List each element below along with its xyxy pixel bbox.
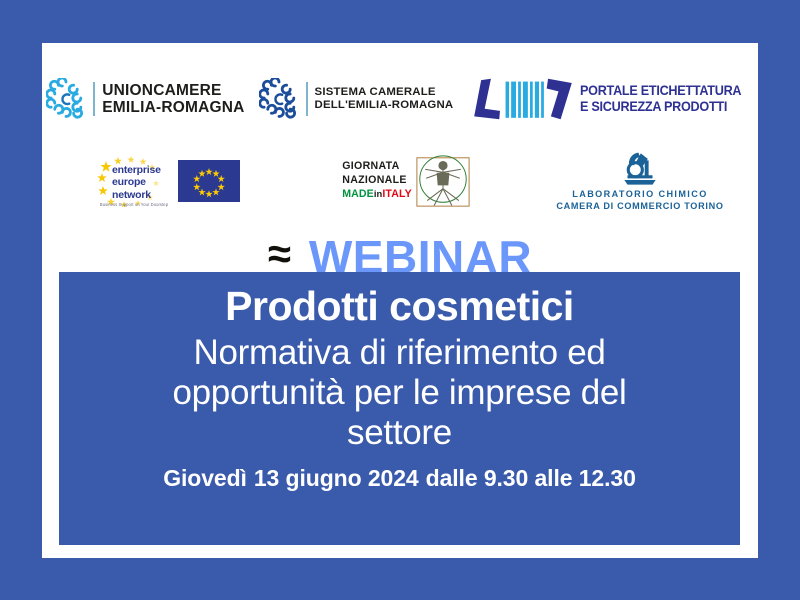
eu-stars-circle-icon	[178, 160, 240, 202]
vitruvian-man-icon	[414, 152, 472, 210]
poster-card: UNIONCAMERE EMILIA-ROMAGNA	[42, 43, 758, 558]
barcode-bracket-icon	[467, 76, 572, 122]
logo-divider	[93, 82, 95, 116]
event-title: Prodotti cosmetici	[69, 284, 730, 330]
event-subtitle: Normativa di riferimento ed opportunità …	[69, 333, 730, 453]
microscope-icon	[616, 151, 664, 187]
logo-portale-etichettatura: PORTALE ETICHETTATURA E SICUREZZA PRODOT…	[467, 76, 753, 122]
event-date: 13 giugno 2024	[254, 465, 419, 491]
een-wordmark: enterprise europe network	[112, 164, 172, 201]
logo-divider	[306, 82, 308, 116]
een-word-europe: europe	[112, 176, 172, 188]
een-word-enterprise: enterprise	[112, 164, 172, 176]
giornata-line-1: GIORNATA	[342, 160, 411, 174]
wifi-wave-icon: ≈	[268, 233, 291, 275]
event-subtitle-line-1: Normativa di riferimento ed	[69, 333, 730, 373]
portale-wordmark: PORTALE ETICHETTATURA E SICUREZZA PRODOT…	[580, 83, 753, 116]
sistema-camerale-flower-icon	[259, 78, 299, 120]
made-in-italy-wordmark: MADEinITALY	[342, 188, 411, 202]
laboratorio-line-2: CAMERA DI COMMERCIO TORINO	[556, 201, 723, 211]
event-day: Giovedì	[163, 465, 247, 491]
logo-giornata-nazionale: GIORNATA NAZIONALE MADEinITALY	[342, 152, 471, 210]
logo-row-primary: UNIONCAMERE EMILIA-ROMAGNA	[42, 61, 758, 137]
giornata-wordmark: GIORNATA NAZIONALE MADEinITALY	[342, 160, 411, 202]
european-union-flag	[178, 160, 240, 202]
made-word: MADE	[342, 188, 374, 200]
italy-word: ITALY	[382, 188, 411, 200]
logo-een-group: enterprise europe network Business Suppo…	[42, 155, 292, 207]
logo-giornata-nazionale-group: GIORNATA NAZIONALE MADEinITALY	[292, 152, 522, 210]
portale-line-2: E SICUREZZA PRODOTTI	[580, 99, 741, 115]
logo-enterprise-europe-network: enterprise europe network Business Suppo…	[94, 155, 240, 207]
logo-laboratorio-chimico-group: LABORATORIO CHIMICO CAMERA DI COMMERCIO …	[522, 151, 758, 211]
unioncamere-flower-icon	[46, 78, 86, 120]
logo-laboratorio-chimico: LABORATORIO CHIMICO CAMERA DI COMMERCIO …	[556, 151, 723, 211]
event-subtitle-line-2: opportunità per le imprese del	[69, 373, 730, 413]
event-subtitle-line-3: settore	[69, 413, 730, 453]
laboratorio-line-1: LABORATORIO CHIMICO	[572, 189, 707, 199]
een-word-network: network	[112, 189, 172, 201]
unioncamere-wordmark: UNIONCAMERE EMILIA-ROMAGNA	[102, 82, 244, 117]
unioncamere-line-1: UNIONCAMERE	[102, 82, 244, 100]
event-datetime: Giovedì13 giugno 2024dalle 9.30 alle 12.…	[69, 465, 730, 492]
unioncamere-line-2: EMILIA-ROMAGNA	[102, 99, 244, 117]
logo-unioncamere-emilia-romagna: UNIONCAMERE EMILIA-ROMAGNA	[46, 78, 244, 120]
een-logo-mark: enterprise europe network Business Suppo…	[94, 155, 172, 207]
sistema-camerale-line-1: SISTEMA CAMERALE	[315, 86, 454, 99]
sistema-camerale-wordmark: SISTEMA CAMERALE DELL'EMILIA-ROMAGNA	[315, 86, 454, 112]
portale-line-1: PORTALE ETICHETTATURA	[580, 83, 741, 99]
poster-background: UNIONCAMERE EMILIA-ROMAGNA	[0, 0, 800, 600]
een-tagline: Business Support on Your Doorstep	[96, 202, 172, 207]
giornata-line-2: NAZIONALE	[342, 174, 411, 188]
sistema-camerale-line-2: DELL'EMILIA-ROMAGNA	[315, 99, 454, 112]
event-time: dalle 9.30 alle 12.30	[426, 465, 636, 491]
logo-sistema-camerale: SISTEMA CAMERALE DELL'EMILIA-ROMAGNA	[259, 78, 454, 120]
event-panel: Prodotti cosmetici Normativa di riferime…	[59, 272, 740, 545]
logo-row-secondary: enterprise europe network Business Suppo…	[42, 143, 758, 219]
